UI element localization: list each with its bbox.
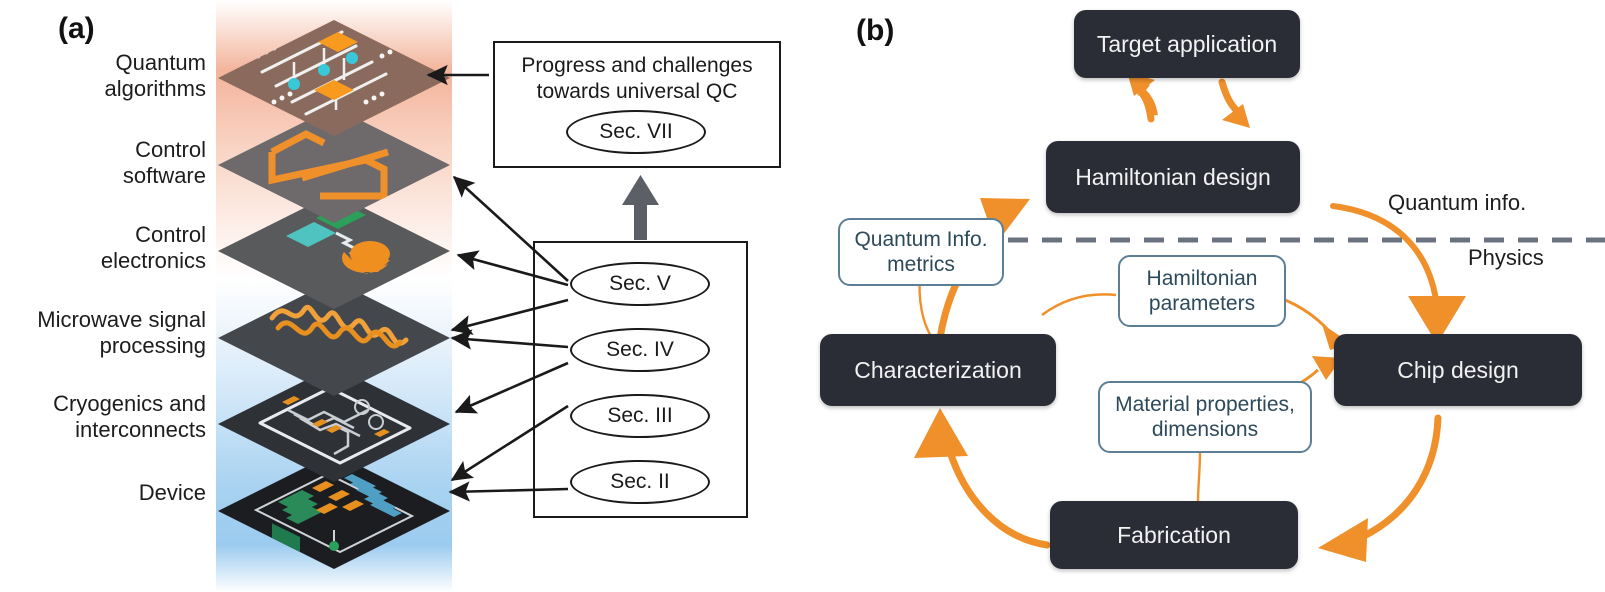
layer-label-line1: Cryogenics and	[0, 391, 206, 417]
panel-a-label: (a)	[58, 12, 95, 46]
isometric-stack	[216, 10, 452, 570]
section-ellipse-iv[interactable]: Sec. IV	[570, 328, 710, 372]
progress-box-line2: towards universal QC	[495, 79, 779, 105]
layer-label-line1: Microwave signal	[0, 307, 206, 333]
tag-line2: parameters	[1149, 291, 1255, 316]
layer-label-line1: Control	[10, 137, 206, 163]
node-hamiltonian-design[interactable]: Hamiltonian design	[1046, 141, 1300, 213]
layer-label-cryogenics-interconnects: Cryogenics and interconnects	[0, 391, 206, 443]
node-target-application[interactable]: Target application	[1074, 10, 1300, 78]
layer-label-control-software: Control software	[10, 137, 206, 189]
panel-b-label: (b)	[856, 14, 894, 48]
tag-line2: metrics	[887, 252, 955, 277]
layer-label-line2: processing	[0, 333, 206, 359]
layer-label-line1: Device	[0, 480, 206, 506]
layer-label-device: Device	[0, 480, 206, 506]
layer-label-line2: electronics	[10, 248, 206, 274]
layer-label-line2: software	[10, 163, 206, 189]
layer-label-quantum-algorithms: Quantum algorithms	[10, 50, 206, 102]
layer-label-control-electronics: Control electronics	[10, 222, 206, 274]
layer-label-line2: algorithms	[10, 76, 206, 102]
tag-line1: Quantum Info.	[854, 227, 987, 252]
tag-line1: Material properties,	[1115, 392, 1295, 417]
layer-label-microwave-signal-processing: Microwave signal processing	[0, 307, 206, 359]
layer-quantum-algorithms	[218, 20, 450, 136]
layer-label-line1: Control	[10, 222, 206, 248]
tag-line2: dimensions	[1152, 417, 1258, 442]
divider-label-quantum-info: Quantum info.	[1388, 190, 1526, 216]
tag-hamiltonian-parameters[interactable]: Hamiltonian parameters	[1118, 255, 1286, 327]
tag-quantum-info-metrics[interactable]: Quantum Info. metrics	[838, 218, 1004, 286]
node-characterization[interactable]: Characterization	[820, 334, 1056, 406]
layer-label-line2: interconnects	[0, 417, 206, 443]
divider-label-physics: Physics	[1468, 245, 1544, 271]
node-chip-design[interactable]: Chip design	[1334, 334, 1582, 406]
progress-box-line1: Progress and challenges	[495, 53, 779, 79]
figure-root: (a) Quantum algorithms Control software …	[0, 0, 1605, 592]
tag-line1: Hamiltonian	[1147, 266, 1258, 291]
section-ellipse-vii[interactable]: Sec. VII	[566, 110, 706, 154]
tag-material-properties[interactable]: Material properties, dimensions	[1098, 381, 1312, 453]
node-fabrication[interactable]: Fabrication	[1050, 501, 1298, 569]
sections-to-progress-arrow	[622, 175, 659, 240]
layer-label-line1: Quantum	[10, 50, 206, 76]
section-ellipse-ii[interactable]: Sec. II	[570, 460, 710, 504]
section-ellipse-iii[interactable]: Sec. III	[570, 394, 710, 438]
section-ellipse-v[interactable]: Sec. V	[570, 262, 710, 306]
